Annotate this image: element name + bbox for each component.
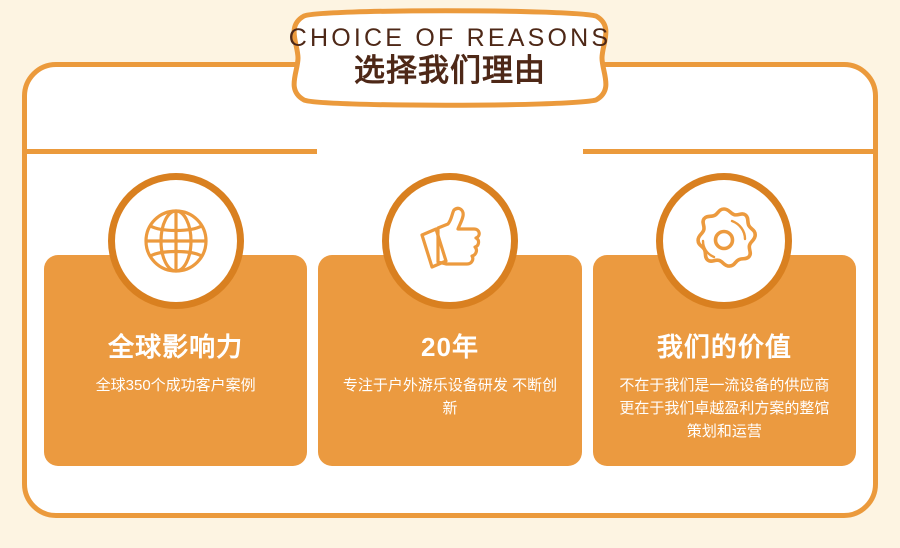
thumbs-up-icon-badge (382, 173, 518, 309)
ribbon-connector-left (27, 149, 317, 154)
card-description: 不在于我们是一流设备的供应商 更在于我们卓越盈利方案的整馆策划和运营 (607, 374, 842, 444)
globe-icon-badge (108, 173, 244, 309)
poster-root: CHOICE OF REASONS 选择我们理由 全球影响力 (0, 0, 900, 548)
gear-icon-badge (656, 173, 792, 309)
card-title: 我们的价值 (607, 333, 842, 362)
ribbon-connector-right (583, 149, 873, 154)
banner-ribbon: CHOICE OF REASONS 选择我们理由 (268, 6, 632, 110)
card-description: 专注于户外游乐设备研发 不断创新 (332, 374, 567, 421)
feature-card-global-influence[interactable]: 全球影响力 全球350个成功客户案例 (44, 255, 307, 466)
globe-icon (137, 202, 215, 280)
feature-card-list: 全球影响力 全球350个成功客户案例 20年 专注于户外游乐设备研发 不断创新 (44, 255, 856, 466)
card-title: 20年 (332, 333, 567, 362)
thumbs-up-icon (410, 202, 490, 280)
gear-icon (684, 201, 764, 281)
card-description: 全球350个成功客户案例 (58, 374, 293, 397)
feature-card-our-value[interactable]: 我们的价值 不在于我们是一流设备的供应商 更在于我们卓越盈利方案的整馆策划和运营 (593, 255, 856, 466)
card-title: 全球影响力 (58, 333, 293, 362)
feature-card-twenty-years[interactable]: 20年 专注于户外游乐设备研发 不断创新 (318, 255, 581, 466)
